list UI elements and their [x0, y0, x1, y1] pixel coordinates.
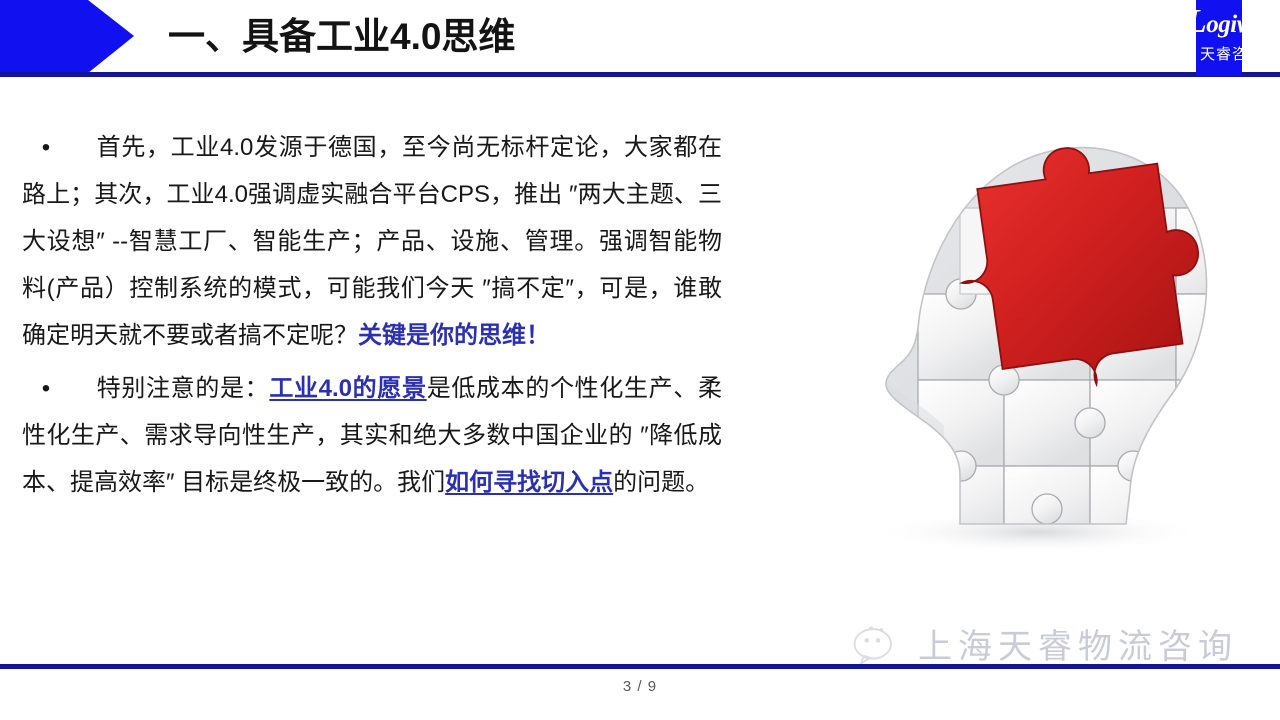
paragraph-1-highlight: 关键是你的思维！ — [358, 322, 550, 349]
bullet-paragraph-2: •特别注意的是：工业4.0的愿景是低成本的个性化生产、柔性化生产、需求导向性生产… — [22, 365, 722, 506]
header-divider-rule — [0, 72, 1280, 77]
page-indicator: 3 / 9 — [0, 678, 1280, 695]
footer-divider-rule — [0, 664, 1280, 669]
bullet-glyph: • — [22, 365, 70, 412]
slide-canvas: 一、具备工业4.0思维 Logiwis 天睿咨询 •首先，工业4.0发源于德国，… — [0, 0, 1280, 720]
page-title: 一、具备工业4.0思维 — [168, 8, 515, 66]
logo-subtitle: 天睿咨询 — [1184, 44, 1280, 66]
logo-wordmark: Logiwis — [1186, 2, 1280, 48]
paragraph-2-run-1: 特别注意的是： — [96, 375, 269, 402]
slide-body-text: •首先，工业4.0发源于德国，至今尚无标杆定论，大家都在路上；其次，工业4.0强… — [22, 124, 722, 506]
bullet-paragraph-1: •首先，工业4.0发源于德国，至今尚无标杆定论，大家都在路上；其次，工业4.0强… — [22, 124, 722, 359]
wechat-icon — [852, 621, 904, 665]
watermark-text: 上海天睿物流咨询 — [918, 619, 1238, 668]
puzzle-head-illustration — [810, 108, 1250, 570]
slide-header: 一、具备工业4.0思维 — [0, 0, 1280, 80]
bullet-glyph: • — [22, 124, 70, 171]
logo-wordmark-rest: ogiwis — [1206, 11, 1268, 38]
paragraph-1-run-1: 首先，工业4.0发源于德国，至今尚无标杆定论，大家都在路上；其次，工业4.0强调… — [22, 134, 722, 349]
paragraph-2-highlight-1: 工业4.0的愿景 — [269, 375, 426, 402]
header-arrow-icon — [0, 0, 134, 73]
paragraph-2-run-3: 的问题。 — [613, 469, 709, 496]
paragraph-2-highlight-2: 如何寻找切入点 — [445, 469, 613, 496]
logo-initial: L — [1186, 3, 1206, 40]
